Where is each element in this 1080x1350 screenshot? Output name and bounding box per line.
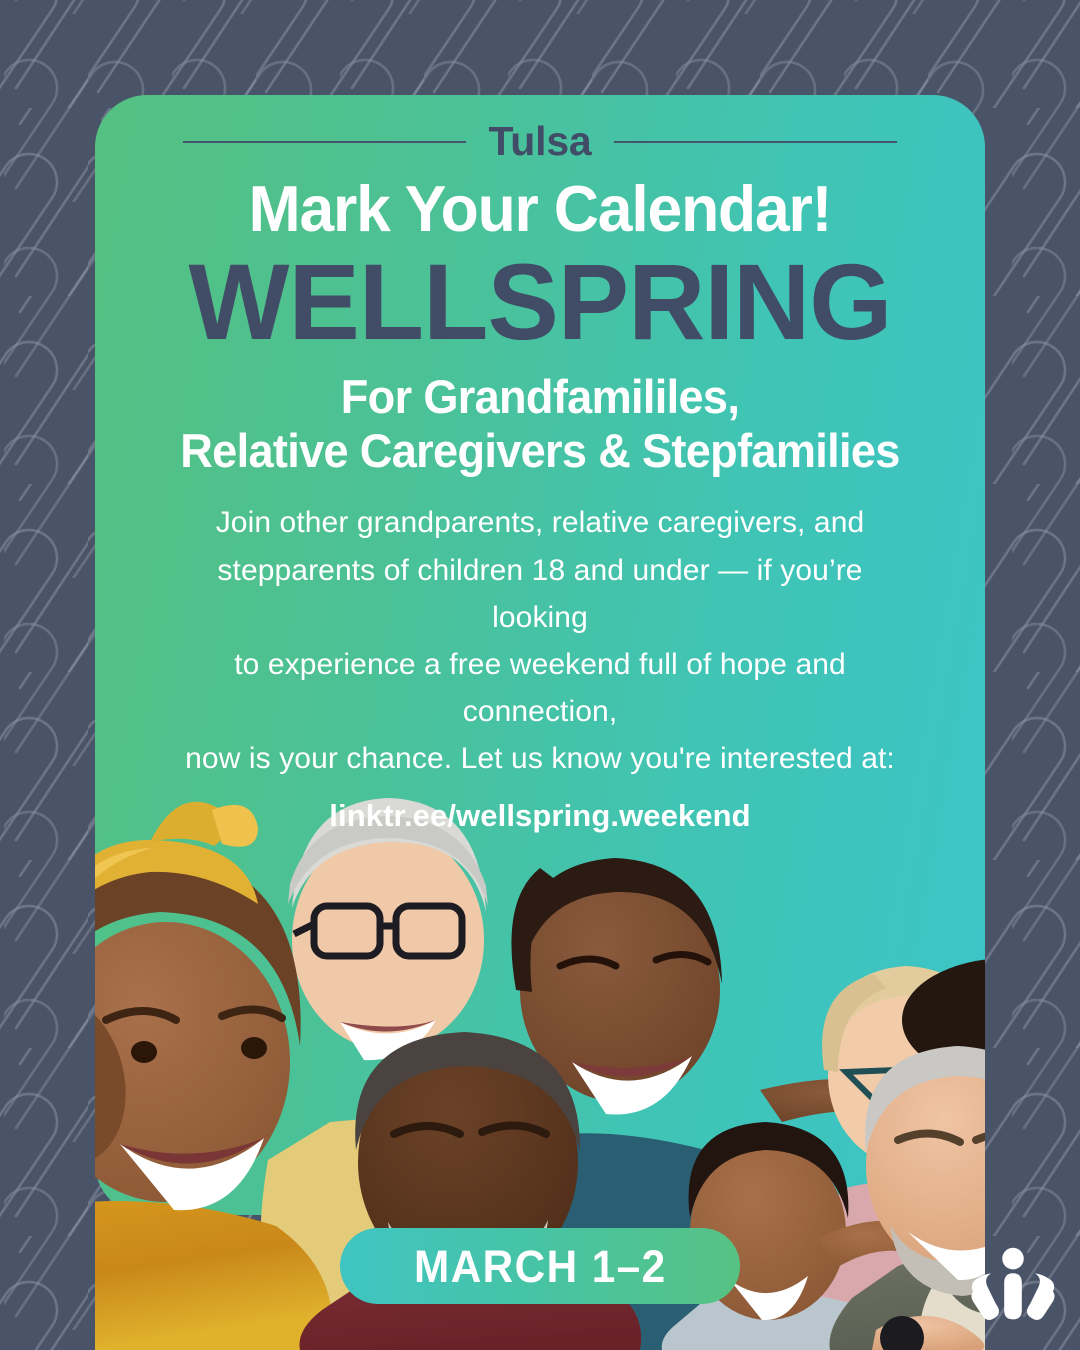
body-line-3: to experience a free weekend full of hop…	[167, 641, 913, 735]
eyebrow-rule-left	[183, 141, 466, 143]
body-copy: Join other grandparents, relative caregi…	[95, 499, 985, 782]
date-label: MARCH 1–2	[414, 1244, 666, 1289]
headline: Mark Your Calendar!	[113, 176, 967, 242]
signup-link[interactable]: linktr.ee/wellspring.weekend	[95, 798, 985, 834]
body-line-2: stepparents of children 18 and under — i…	[167, 547, 913, 641]
wellspring-figure-logo-icon	[964, 1238, 1062, 1336]
subheadline-line-1: For Grandfamililes,	[151, 370, 929, 424]
body-line-4: now is your chance. Let us know you're i…	[167, 735, 913, 782]
date-badge: MARCH 1–2	[340, 1228, 740, 1304]
person-girl-yellow-headwrap	[0, 802, 332, 1350]
eyebrow-row: Tulsa	[95, 121, 985, 162]
city-label: Tulsa	[488, 121, 591, 162]
subheadline: For Grandfamililes, Relative Caregivers …	[113, 370, 967, 477]
subheadline-line-2: Relative Caregivers & Stepfamilies	[151, 424, 929, 478]
poster-content: Tulsa Mark Your Calendar! WELLSPRING For…	[95, 95, 985, 834]
poster-canvas: Tulsa Mark Your Calendar! WELLSPRING For…	[0, 0, 1080, 1350]
body-line-1: Join other grandparents, relative caregi…	[167, 499, 913, 546]
brand-wordmark: WELLSPRING	[99, 248, 980, 356]
eyebrow-rule-right	[614, 141, 897, 143]
